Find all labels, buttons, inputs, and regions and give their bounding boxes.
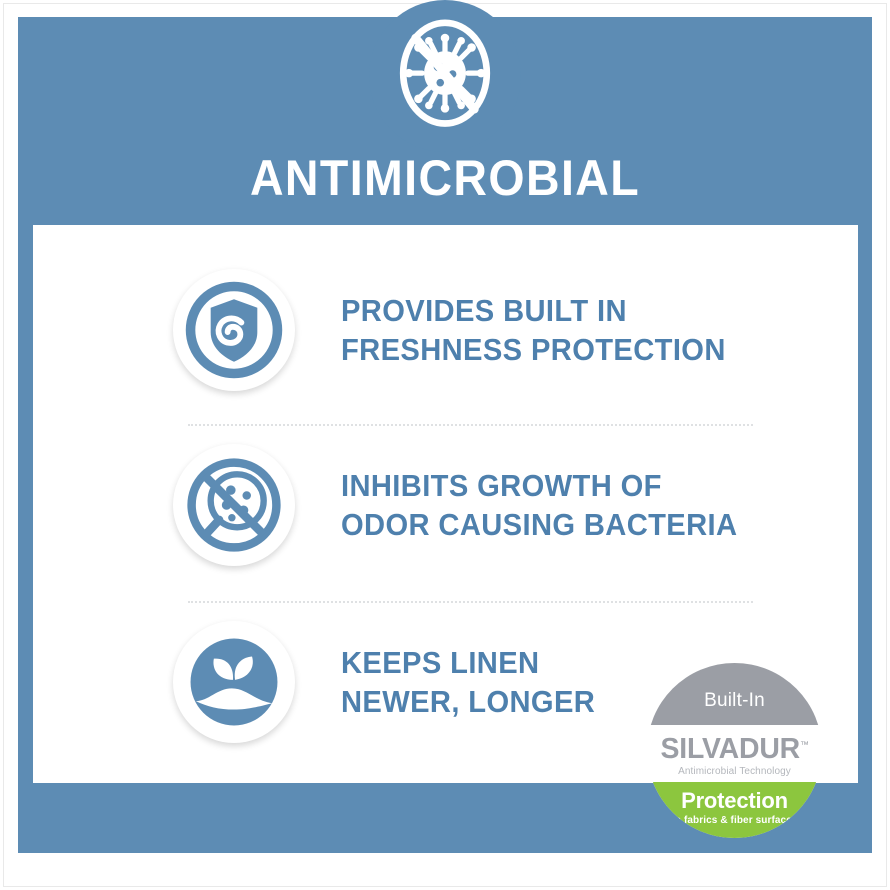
feature-line-2: NEWER, LONGER [341, 682, 595, 721]
feature-line-2: FRESHNESS PROTECTION [341, 330, 726, 369]
logo-bottom-band: Protection to fabrics & fiber surfaces [647, 782, 822, 838]
silvadur-logo: Built-In SILVADUR™ Antimicrobial Technol… [647, 663, 822, 838]
logo-protection-label: Protection [647, 790, 822, 812]
poster-header: ANTIMICROBIAL [18, 17, 872, 225]
feature-line-1: KEEPS LINEN [341, 643, 595, 682]
divider [188, 424, 753, 426]
feature-line-1: PROVIDES BUILT IN [341, 291, 726, 330]
feature-text: INHIBITS GROWTH OF ODOR CAUSING BACTERIA [341, 466, 737, 544]
feature-line-1: INHIBITS GROWTH OF [341, 466, 737, 505]
sprout-leaf-icon [173, 621, 295, 743]
blue-panel: ANTIMICROBIAL PROVIDES BUILT IN FRESHNES… [18, 17, 872, 853]
antimicrobial-poster: ANTIMICROBIAL PROVIDES BUILT IN FRESHNES… [0, 0, 890, 890]
logo-tagline: Antimicrobial Technology [647, 767, 822, 777]
virus-blocked-icon [369, 0, 521, 152]
features-card: PROVIDES BUILT IN FRESHNESS PROTECTION [33, 225, 858, 783]
feature-line-2: ODOR CAUSING BACTERIA [341, 505, 737, 544]
logo-brand-text: SILVADUR [660, 733, 799, 765]
feature-item-freshness: PROVIDES BUILT IN FRESHNESS PROTECTION [173, 255, 813, 405]
page-title: ANTIMICROBIAL [48, 153, 842, 203]
logo-mid-band: SILVADUR™ Antimicrobial Technology [647, 725, 822, 782]
logo-top-band: Built-In [647, 663, 822, 725]
logo-built-in-label: Built-In [704, 690, 765, 712]
shield-freshness-icon [173, 269, 295, 391]
no-bacteria-magnifier-icon [173, 444, 295, 566]
feature-item-bacteria: INHIBITS GROWTH OF ODOR CAUSING BACTERIA [173, 430, 813, 580]
logo-brand: SILVADUR™ [660, 735, 808, 764]
trademark-symbol: ™ [800, 739, 809, 749]
logo-protection-sub: to fabrics & fiber surfaces [647, 816, 822, 826]
feature-text: KEEPS LINEN NEWER, LONGER [341, 643, 595, 721]
feature-text: PROVIDES BUILT IN FRESHNESS PROTECTION [341, 291, 726, 369]
divider [188, 601, 753, 603]
